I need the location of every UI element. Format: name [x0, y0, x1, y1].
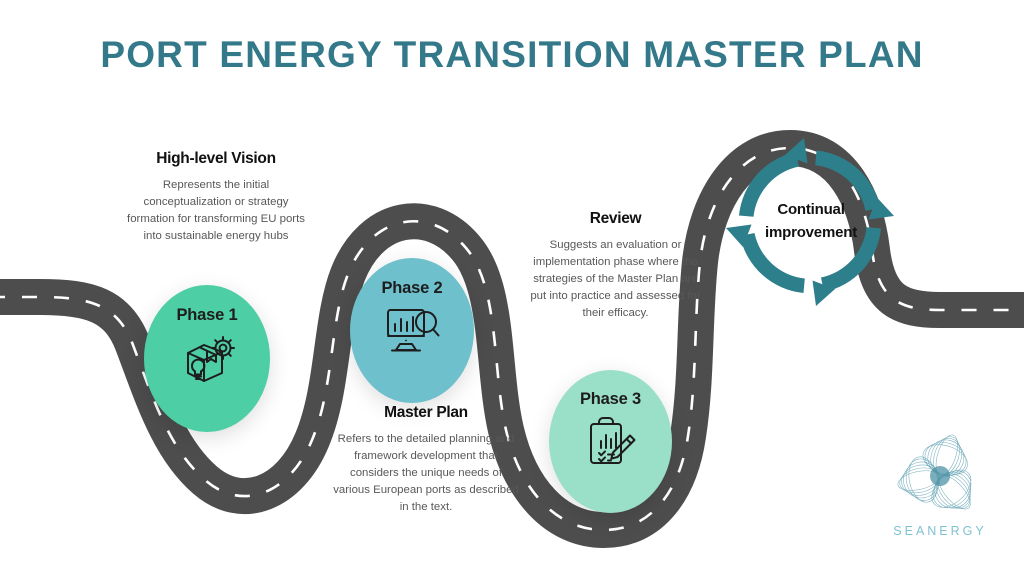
phase-3-label: Phase 3: [580, 390, 641, 409]
phase-2-circle[interactable]: Phase 2: [350, 258, 474, 403]
block-title-high-level-vision: High-level Vision: [126, 150, 306, 168]
page-title: PORT ENERGY TRANSITION MASTER PLAN: [0, 34, 1024, 76]
seanergy-logo: SEANERGY: [884, 434, 996, 546]
block-title-master-plan: Master Plan: [333, 404, 519, 422]
phase-1-label: Phase 1: [177, 306, 238, 325]
block-title-review: Review: [529, 210, 702, 228]
phase-2-label: Phase 2: [382, 279, 443, 298]
box-gear-lightbulb-icon: [178, 331, 236, 390]
block-body-master-plan: Refers to the detailed planning and fram…: [333, 431, 519, 516]
seanergy-turbine-logo: [884, 434, 996, 522]
block-high-level-vision: High-level Vision Represents the initial…: [126, 150, 306, 245]
block-body-review: Suggests an evaluation or implementation…: [529, 237, 702, 322]
phase-3-circle[interactable]: Phase 3: [549, 370, 672, 513]
block-body-high-level-vision: Represents the initial conceptualization…: [126, 177, 306, 245]
monitor-chart-magnifier-icon: [383, 304, 441, 359]
clipboard-chart-pencil-icon: [584, 415, 638, 472]
phase-1-circle[interactable]: Phase 1: [144, 285, 270, 432]
block-review: Review Suggests an evaluation or impleme…: [529, 210, 702, 322]
block-master-plan: Master Plan Refers to the detailed plann…: [333, 404, 519, 516]
cycle-label: Continual improvement: [732, 198, 890, 244]
infographic-canvas: PORT ENERGY TRANSITION MASTER PLAN High-…: [0, 0, 1024, 576]
logo-text: SEANERGY: [884, 524, 996, 538]
